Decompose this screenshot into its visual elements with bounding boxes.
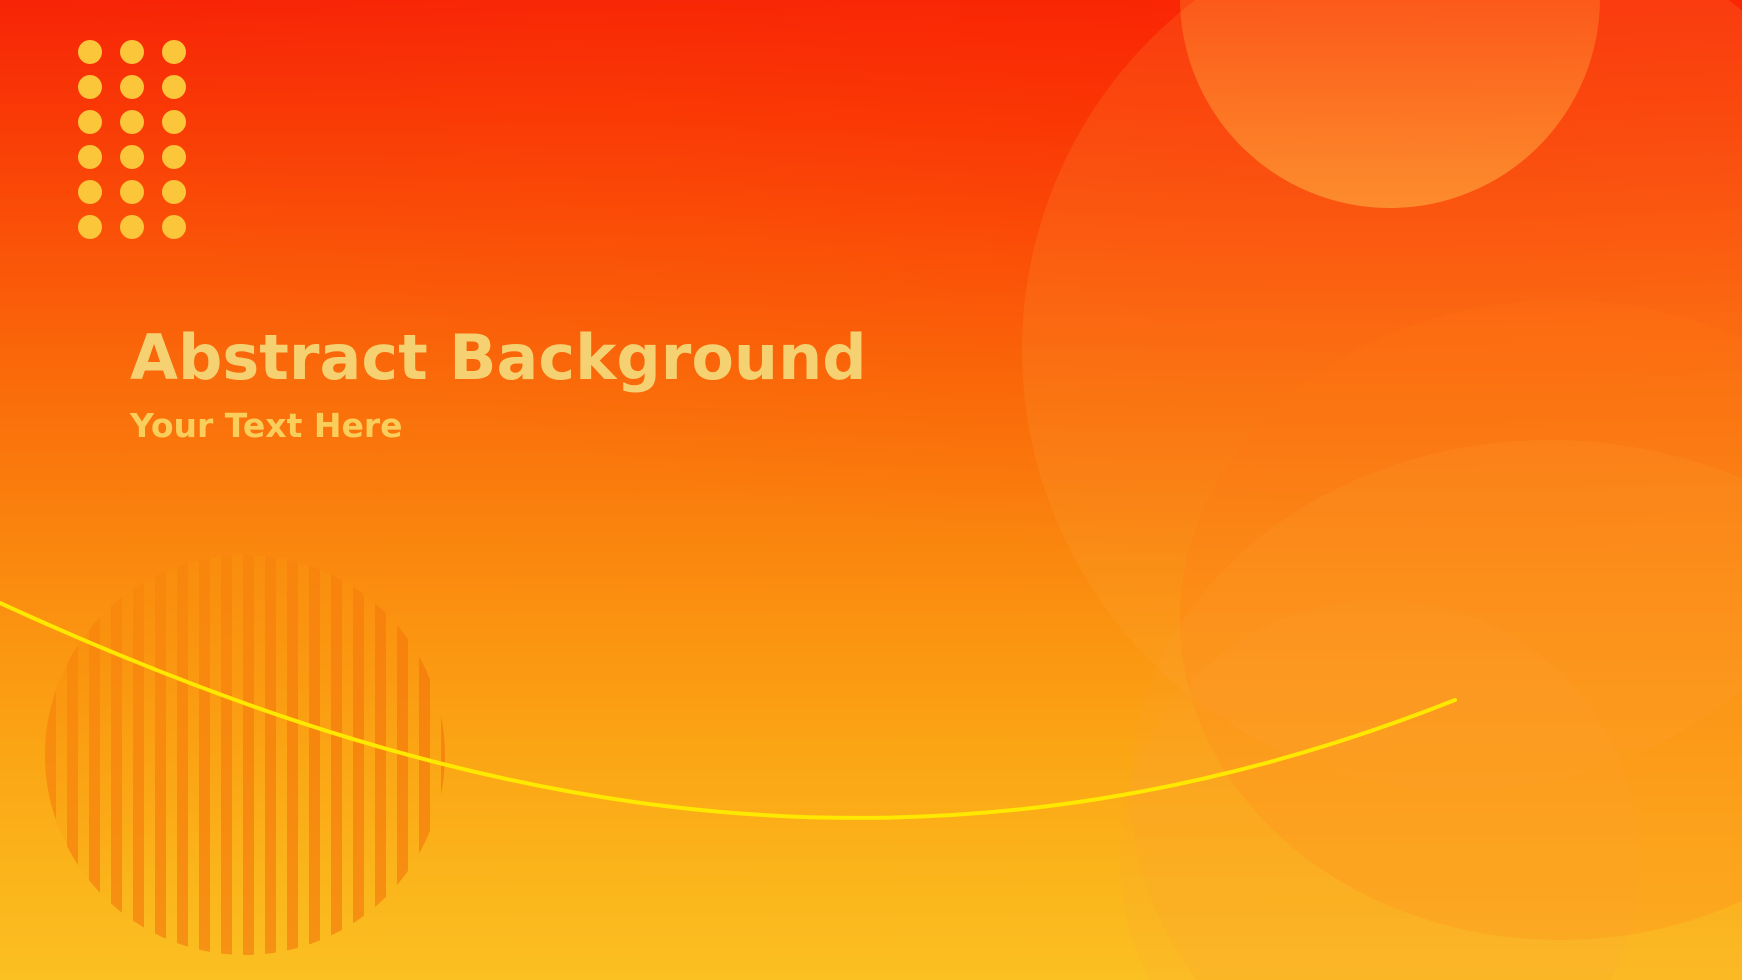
dot (162, 145, 186, 169)
dot (78, 75, 102, 99)
dot (120, 110, 144, 134)
dot (78, 40, 102, 64)
dot (120, 145, 144, 169)
yellow-curve-layer (0, 0, 1742, 980)
dot (120, 75, 144, 99)
dot (120, 215, 144, 239)
dot (162, 75, 186, 99)
page-subtitle: Your Text Here (130, 408, 867, 444)
dot (120, 40, 144, 64)
dot (120, 180, 144, 204)
abstract-background-canvas: Abstract Background Your Text Here (0, 0, 1742, 980)
dot (162, 40, 186, 64)
dot (162, 215, 186, 239)
dot (162, 180, 186, 204)
dot (162, 110, 186, 134)
dot-grid-decoration (78, 40, 204, 250)
page-title: Abstract Background (130, 325, 867, 390)
dot (78, 215, 102, 239)
dot (78, 180, 102, 204)
text-block: Abstract Background Your Text Here (130, 325, 867, 444)
yellow-curve-icon (0, 603, 1455, 818)
dot (78, 110, 102, 134)
dot (78, 145, 102, 169)
